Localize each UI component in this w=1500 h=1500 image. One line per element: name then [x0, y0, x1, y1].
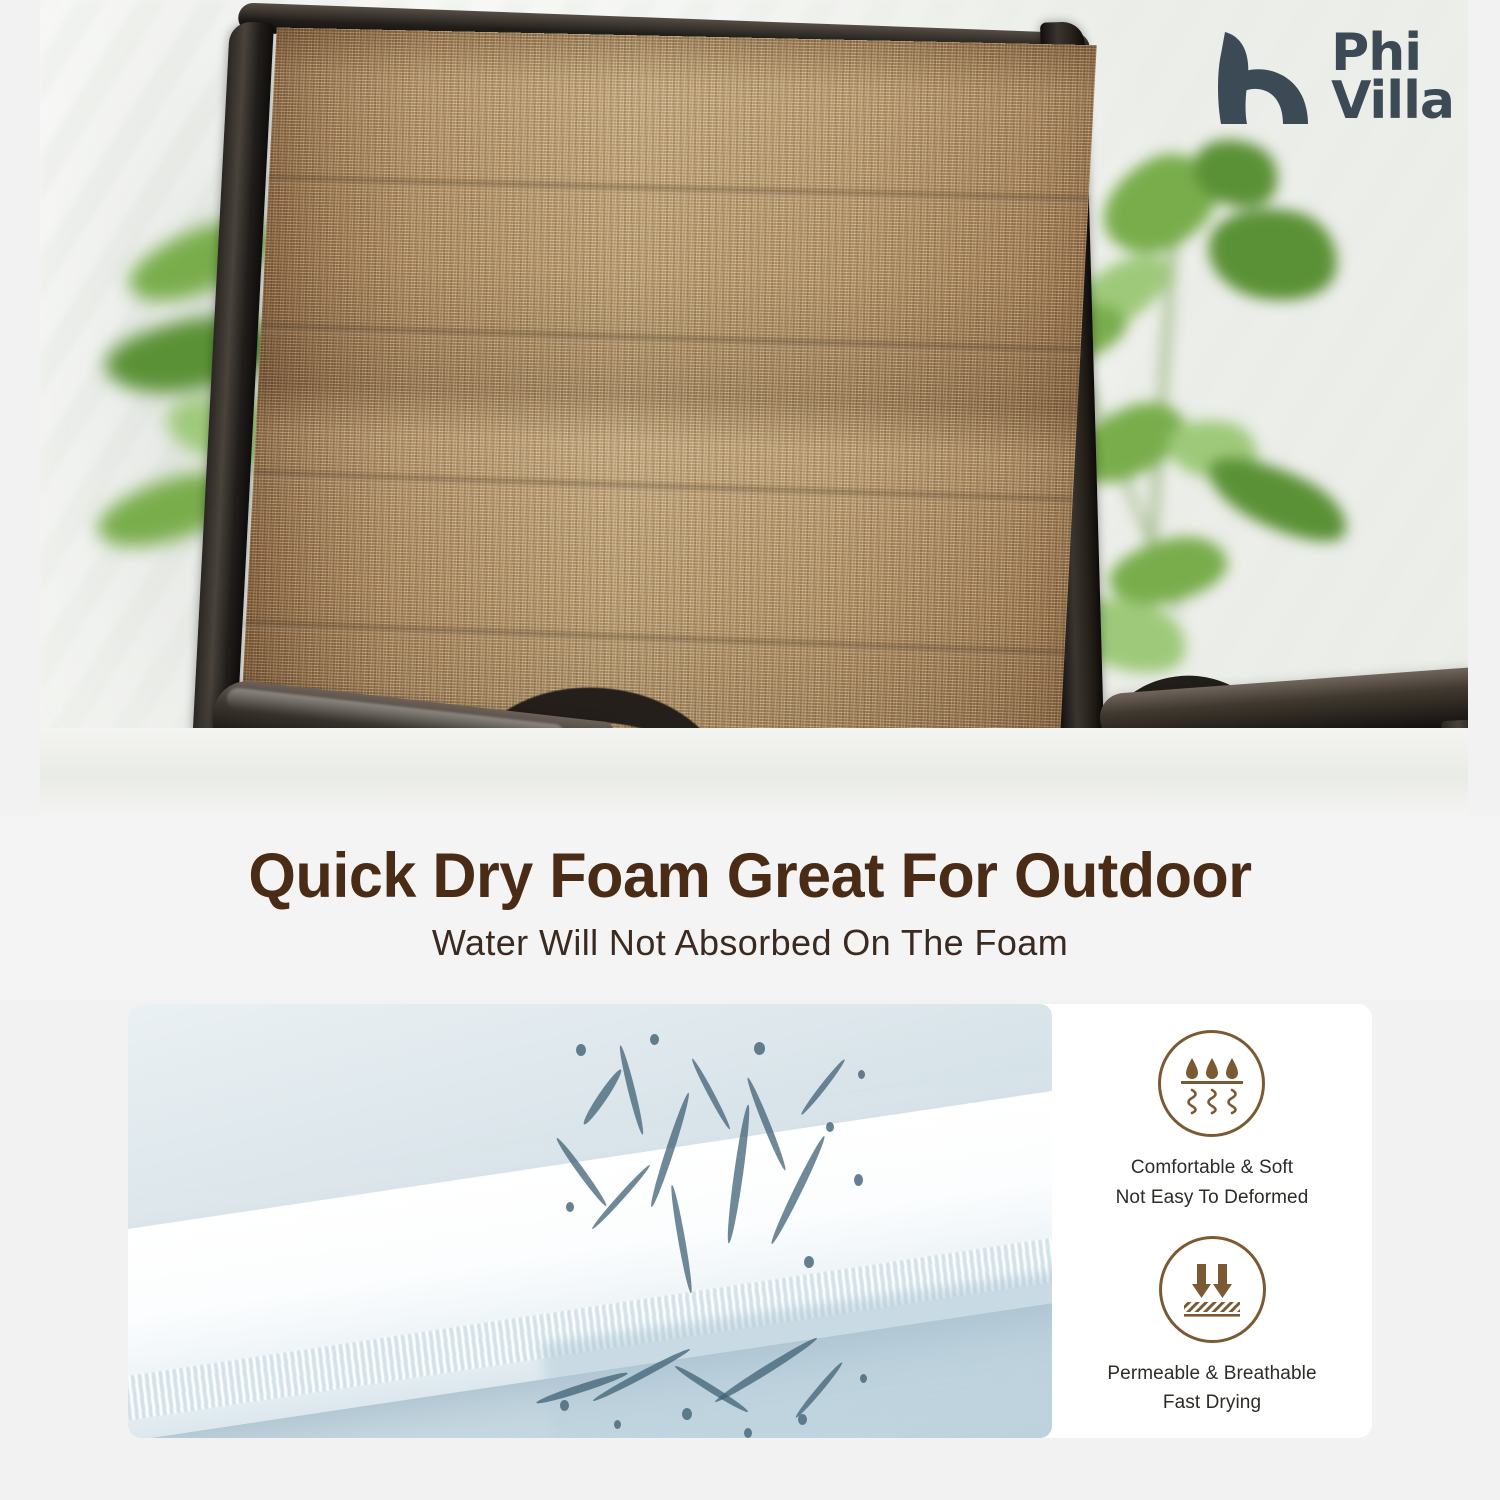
feature-item-breathable: Permeable & Breathable Fast Drying [1107, 1236, 1316, 1418]
feature-label-breathable: Permeable & Breathable Fast Drying [1107, 1359, 1316, 1418]
feature-card: Comfortable & Soft Not Easy To Deformed [128, 1004, 1372, 1438]
water-drops-evaporation-icon [1158, 1030, 1265, 1137]
water-splash-upper [558, 1034, 888, 1324]
feature-label-comfort: Comfortable & Soft Not Easy To Deformed [1116, 1153, 1309, 1212]
foam-water-photo [128, 1004, 1052, 1438]
headline-section: Quick Dry Foam Great For Outdoor Water W… [0, 816, 1500, 1000]
feature-label-line-2: Fast Drying [1107, 1388, 1316, 1417]
logo-line-2: Villa [1331, 78, 1454, 126]
feature-label-line-1: Permeable & Breathable [1107, 1359, 1316, 1388]
brand-logo: Phi Villa [1207, 24, 1454, 132]
headline-title: Quick Dry Foam Great For Outdoor [23, 840, 1478, 912]
feature-label-line-2: Not Easy To Deformed [1116, 1183, 1309, 1212]
feature-label-line-1: Comfortable & Soft [1116, 1153, 1309, 1182]
headline-subtitle: Water Will Not Absorbed On The Foam [0, 922, 1500, 964]
floor-surface [40, 728, 1468, 816]
feature-list: Comfortable & Soft Not Easy To Deformed [1052, 1004, 1372, 1438]
water-splash-lower [548, 1304, 908, 1438]
down-arrows-permeable-layer-icon [1159, 1236, 1266, 1343]
phi-villa-curve-mark-icon [1207, 24, 1319, 132]
feature-item-comfort: Comfortable & Soft Not Easy To Deformed [1116, 1030, 1309, 1212]
